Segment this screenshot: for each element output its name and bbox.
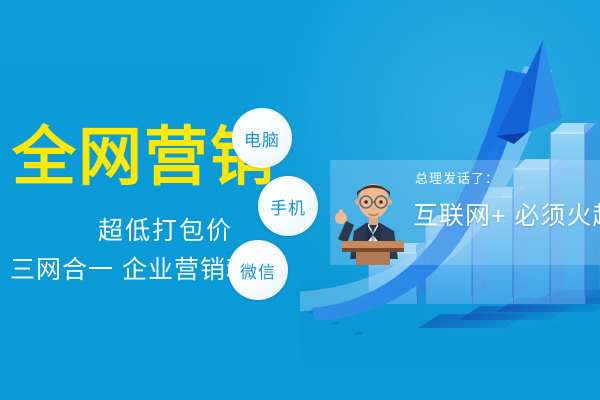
channel-badge-mobile[interactable]: 手机 bbox=[258, 176, 318, 236]
subtitle-line-1: 超低打包价 bbox=[98, 211, 233, 247]
quote-main-text: 互联网+ 必须火起来 bbox=[413, 196, 600, 232]
channel-badge-wechat-label: 微信 bbox=[240, 258, 276, 283]
channel-badge-wechat[interactable]: 微信 bbox=[228, 240, 288, 300]
quote-lead-text: 总理发话了： bbox=[415, 168, 499, 187]
channel-badge-pc[interactable]: 电脑 bbox=[232, 108, 292, 168]
channel-badge-pc-label: 电脑 bbox=[244, 126, 280, 151]
marketing-banner: 总理发话了： 互联网+ 必须火起来 全网营销 超低打包价 三网合一 企业营销利器… bbox=[0, 0, 600, 400]
channel-badge-mobile-label: 手机 bbox=[270, 194, 306, 219]
speaking-official-icon bbox=[332, 165, 414, 265]
